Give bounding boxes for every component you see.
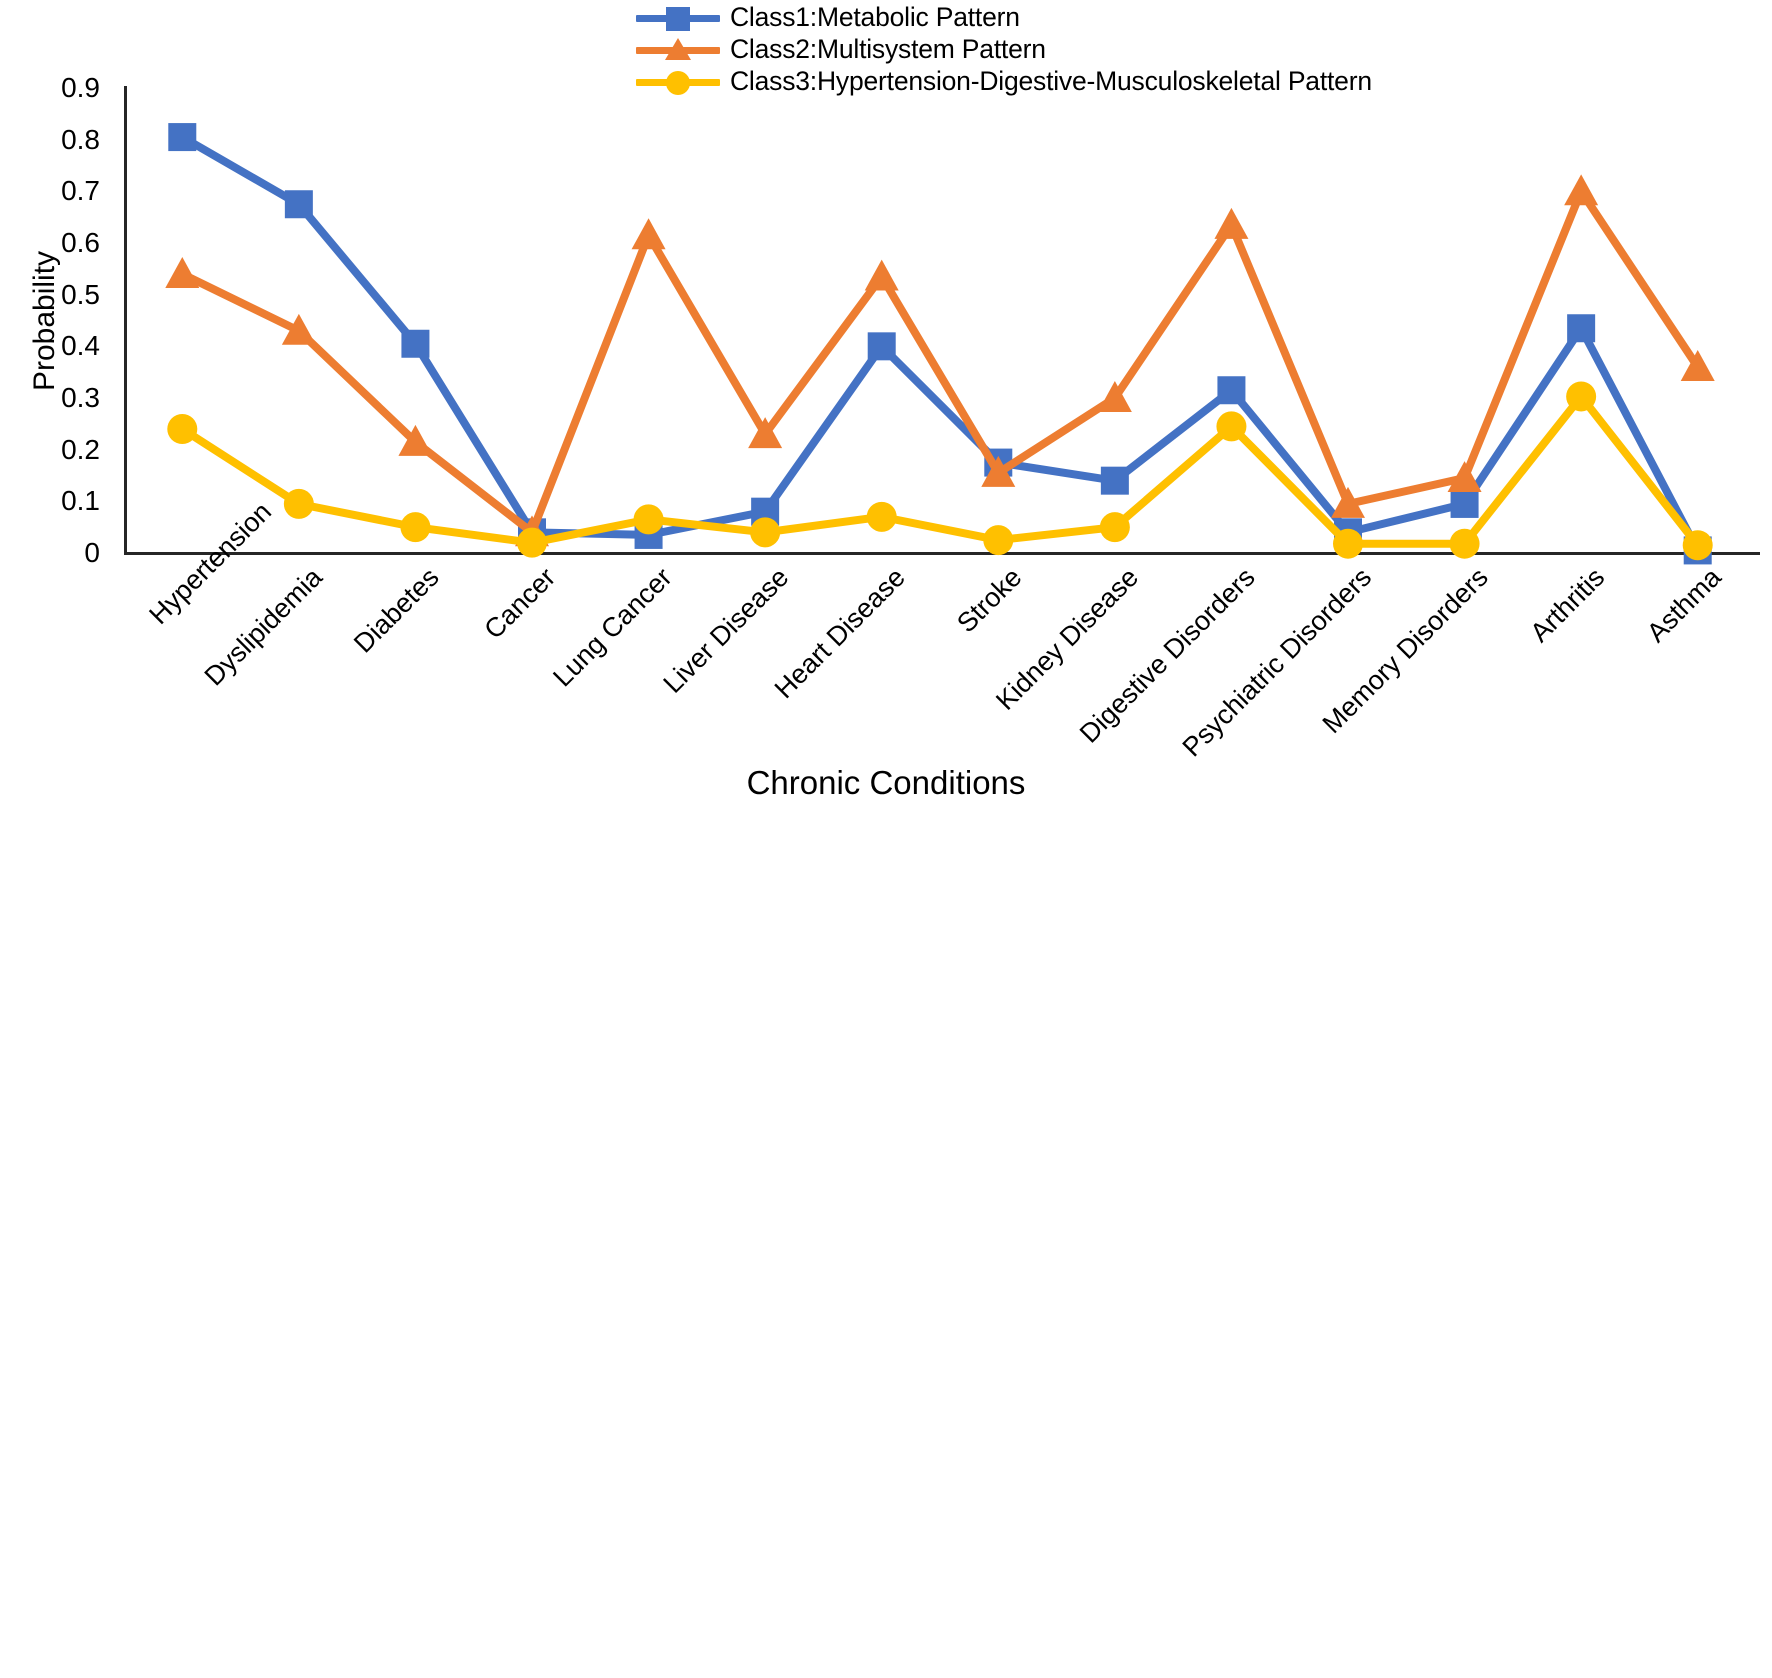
line-chart: Class1:Metabolic Pattern Class2:Multisys… xyxy=(0,0,1772,839)
y-axis-title: Probability xyxy=(28,250,62,390)
legend-key-class1 xyxy=(636,2,720,32)
y-tick-label: 0.2 xyxy=(30,436,100,464)
square-marker-icon xyxy=(868,332,896,360)
y-axis-title-wrap: Probability xyxy=(28,250,62,390)
y-tick-label: 0 xyxy=(30,539,100,567)
triangle-marker-icon xyxy=(1448,461,1482,492)
y-tick-label: 0.7 xyxy=(30,177,100,205)
chart-legend: Class1:Metabolic Pattern Class2:Multisys… xyxy=(636,2,1372,96)
circle-marker-icon xyxy=(1450,529,1480,559)
circle-marker-icon xyxy=(983,525,1013,555)
square-marker-icon xyxy=(285,190,313,218)
y-tick-label: 0.8 xyxy=(30,126,100,154)
square-marker-icon xyxy=(168,123,196,151)
legend-item-class1[interactable]: Class1:Metabolic Pattern xyxy=(636,2,1372,32)
square-marker-icon xyxy=(401,330,429,358)
circle-marker-icon xyxy=(517,528,547,558)
circle-marker-icon xyxy=(1333,529,1363,559)
legend-label-class2: Class2:Multisystem Pattern xyxy=(720,34,1046,64)
y-tick-label: 0.5 xyxy=(30,281,100,309)
legend-item-class2[interactable]: Class2:Multisystem Pattern xyxy=(636,34,1372,64)
y-tick-label: 0.6 xyxy=(30,229,100,257)
y-tick-label: 0.1 xyxy=(30,487,100,515)
circle-marker-icon xyxy=(1216,411,1246,441)
x-axis-title: Chronic Conditions xyxy=(747,764,1026,802)
triangle-marker-icon xyxy=(865,260,899,291)
x-tick-label: Diabetes xyxy=(212,562,446,796)
y-tick-label: 0.3 xyxy=(30,384,100,412)
circle-marker-icon xyxy=(400,512,430,542)
circle-marker-icon xyxy=(867,502,897,532)
square-marker-icon xyxy=(666,7,690,31)
series-2 xyxy=(165,174,1714,546)
legend-label-class1: Class1:Metabolic Pattern xyxy=(720,2,1020,32)
circle-marker-icon xyxy=(284,489,314,519)
triangle-marker-icon xyxy=(1214,208,1248,239)
circle-marker-icon xyxy=(634,504,664,534)
y-tick-label: 0.9 xyxy=(30,74,100,102)
triangle-marker-icon xyxy=(665,38,691,60)
circle-marker-icon xyxy=(1683,530,1713,560)
circle-marker-icon xyxy=(167,414,197,444)
square-marker-icon xyxy=(1217,376,1245,404)
x-tick-label: Heart Disease xyxy=(348,562,911,1125)
circle-marker-icon xyxy=(1566,381,1596,411)
y-tick-label: 0.4 xyxy=(30,332,100,360)
series-lines xyxy=(124,88,1756,553)
square-marker-icon xyxy=(1567,314,1595,342)
square-marker-icon xyxy=(1101,467,1129,495)
x-tick-label: Hypertension xyxy=(143,562,212,631)
triangle-marker-icon xyxy=(165,257,199,288)
x-tick-label: Psychiatric Disorders xyxy=(485,562,1378,1455)
x-axis-title-wrap: Chronic Conditions xyxy=(0,764,1772,802)
triangle-marker-icon xyxy=(1564,174,1598,205)
square-marker-icon xyxy=(1451,490,1479,518)
legend-key-class2 xyxy=(636,34,720,64)
triangle-marker-icon xyxy=(632,218,666,249)
circle-marker-icon xyxy=(750,517,780,547)
plot-area: Probability 0.90.80.70.60.50.40.30.20.10 xyxy=(124,88,1756,553)
circle-marker-icon xyxy=(1100,512,1130,542)
series-1 xyxy=(168,123,1711,564)
